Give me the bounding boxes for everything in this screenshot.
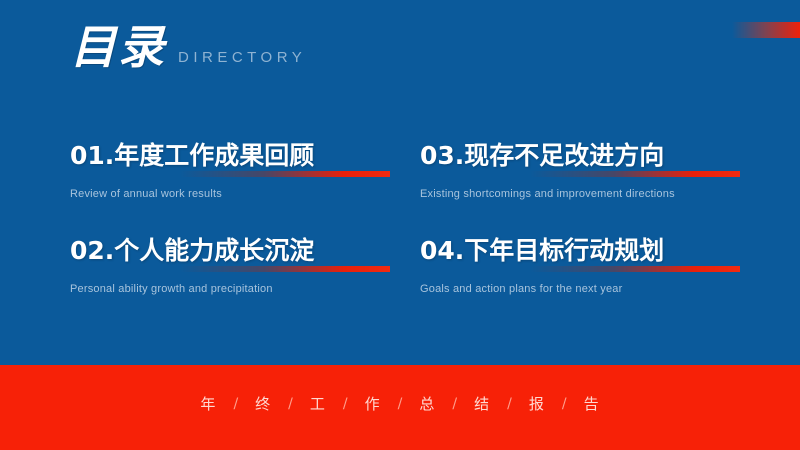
menu-underline-accent	[180, 171, 390, 177]
menu-item-subtitle: Review of annual work results	[70, 187, 420, 201]
menu-underline-accent	[530, 266, 740, 272]
footer-char: 结	[474, 393, 490, 414]
menu-title-wrap-01: 01.年度工作成果回顾	[70, 138, 420, 182]
footer-char: 终	[255, 393, 271, 414]
menu-item-subtitle: Goals and action plans for the next year	[420, 282, 750, 296]
menu-title-wrap-03: 03.现存不足改进方向	[420, 138, 750, 182]
menu-underline-accent	[530, 171, 740, 177]
menu-item-title: 02.个人能力成长沉淀	[70, 236, 314, 265]
footer-text-row: 年/终/工/作/总/结/报/告	[200, 393, 599, 414]
footer-char: 作	[365, 393, 381, 414]
top-right-accent-bar	[732, 22, 800, 38]
footer-separator: /	[562, 396, 567, 412]
footer-char: 告	[584, 393, 600, 414]
directory-menu: 01.年度工作成果回顾 Review of annual work result…	[70, 138, 750, 296]
menu-title-wrap-02: 02.个人能力成长沉淀	[70, 233, 420, 277]
footer-separator: /	[452, 396, 457, 412]
footer-separator: /	[288, 396, 293, 412]
footer-bar: 年/终/工/作/总/结/报/告	[0, 365, 800, 450]
slide-canvas: 目录 DIRECTORY 01.年度工作成果回顾 Review of annua…	[0, 0, 800, 450]
menu-item-title: 04.下年目标行动规划	[420, 236, 664, 265]
slide-header: 目录 DIRECTORY	[70, 24, 306, 70]
menu-item-subtitle: Personal ability growth and precipitatio…	[70, 282, 420, 296]
footer-separator: /	[233, 396, 238, 412]
menu-item-01[interactable]: 01.年度工作成果回顾 Review of annual work result…	[70, 138, 420, 201]
menu-title-wrap-04: 04.下年目标行动规划	[420, 233, 750, 277]
menu-item-03[interactable]: 03.现存不足改进方向 Existing shortcomings and im…	[420, 138, 750, 201]
footer-separator: /	[343, 396, 348, 412]
menu-item-subtitle: Existing shortcomings and improvement di…	[420, 187, 750, 201]
page-title-en: DIRECTORY	[178, 50, 306, 70]
footer-char: 年	[200, 393, 216, 414]
menu-underline-accent	[180, 266, 390, 272]
footer-char: 总	[419, 393, 435, 414]
menu-item-title: 01.年度工作成果回顾	[70, 141, 314, 170]
menu-item-title: 03.现存不足改进方向	[420, 141, 664, 170]
footer-char: 工	[310, 393, 326, 414]
page-title-cn: 目录	[70, 24, 166, 70]
footer-separator: /	[398, 396, 403, 412]
footer-char: 报	[529, 393, 545, 414]
menu-item-02[interactable]: 02.个人能力成长沉淀 Personal ability growth and …	[70, 233, 420, 296]
menu-item-04[interactable]: 04.下年目标行动规划 Goals and action plans for t…	[420, 233, 750, 296]
footer-separator: /	[507, 396, 512, 412]
